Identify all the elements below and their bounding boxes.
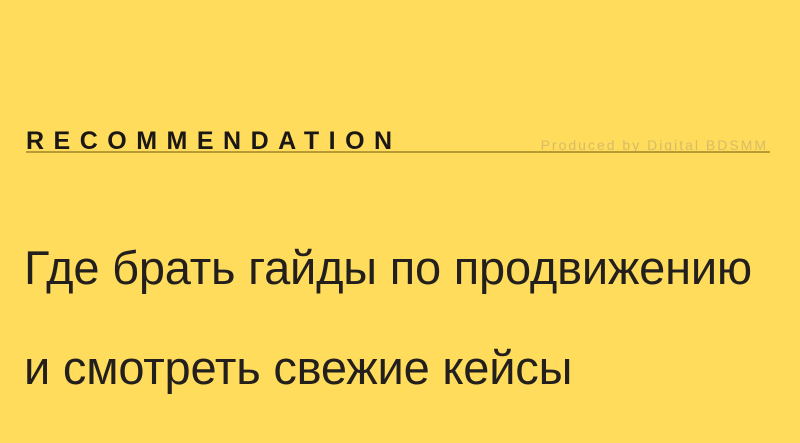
headline-line-1: Где брать гайды по продвижению	[24, 243, 794, 293]
horizontal-divider	[26, 151, 770, 153]
headline: Где брать гайды по продвижению и смотрет…	[24, 193, 794, 443]
kicker-row: RECOMMENDATION Produced by Digital BDSMM	[26, 118, 770, 154]
headline-line-2: и смотреть свежие кейсы	[24, 343, 794, 393]
recommendation-banner: RECOMMENDATION Produced by Digital BDSMM…	[0, 0, 800, 400]
